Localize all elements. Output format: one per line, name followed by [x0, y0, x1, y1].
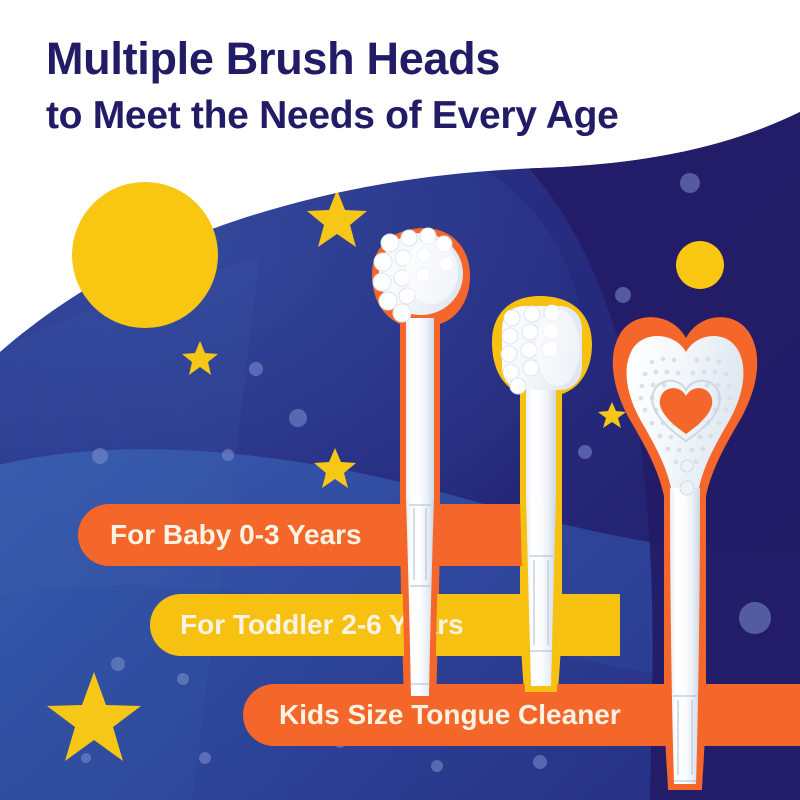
- product-infographic: Multiple Brush Heads to Meet the Needs o…: [0, 0, 800, 800]
- banner-toddler-label: For Toddler 2-6 Years: [180, 609, 464, 641]
- banner-baby[interactable]: For Baby 0-3 Years: [78, 504, 558, 566]
- banner-baby-label: For Baby 0-3 Years: [110, 519, 362, 551]
- background-artwork: [0, 0, 800, 800]
- yellow-circle-small: [676, 241, 724, 289]
- yellow-circle-large: [72, 182, 218, 328]
- banner-toddler[interactable]: For Toddler 2-6 Years: [150, 594, 620, 656]
- banner-tongue-cleaner-label: Kids Size Tongue Cleaner: [279, 699, 621, 731]
- banner-tongue-cleaner[interactable]: Kids Size Tongue Cleaner: [243, 684, 800, 746]
